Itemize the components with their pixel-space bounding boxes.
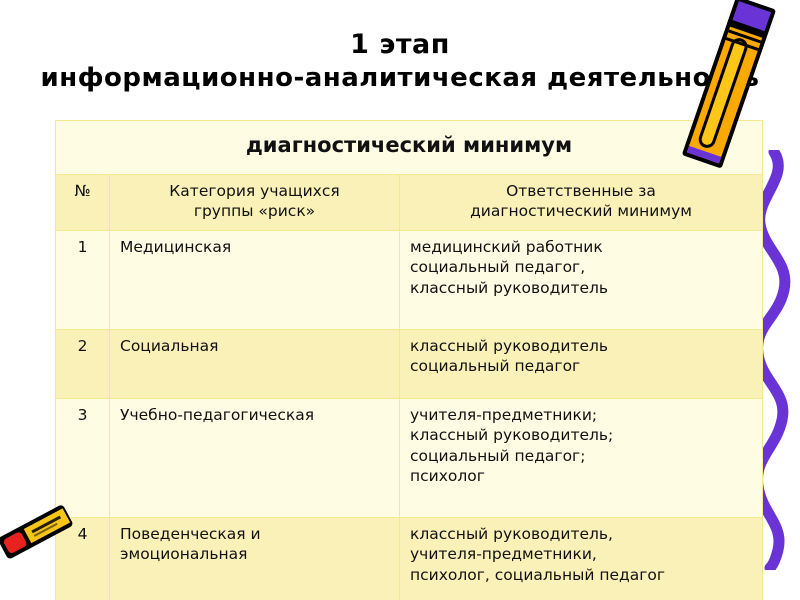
cell-category: Социальная: [110, 330, 400, 399]
title-line-2: информационно-аналитическая деятельность: [0, 62, 800, 95]
title-line-1: 1 этап: [0, 28, 800, 62]
table-header-row: № Категория учащихся группы «риск» Ответ…: [56, 175, 763, 231]
cell-responsible: классный руководитель социальный педагог: [400, 330, 763, 399]
table-row: 4 Поведенческая и эмоциональная классный…: [56, 518, 763, 600]
cell-number: 2: [56, 330, 110, 399]
table-row: 1 Медицинская медицинский работник социа…: [56, 231, 763, 330]
cell-responsible: медицинский работник социальный педагог,…: [400, 231, 763, 330]
table-caption-row: диагностический минимум: [56, 121, 763, 175]
column-header-category: Категория учащихся группы «риск»: [110, 175, 400, 231]
column-header-responsible: Ответственные за диагностический минимум: [400, 175, 763, 231]
slide-canvas: 1 этап информационно-аналитическая деяте…: [0, 0, 800, 600]
diagnostic-minimum-table: диагностический минимум № Категория учащ…: [55, 120, 763, 600]
slide-title: 1 этап информационно-аналитическая деяте…: [0, 28, 800, 95]
diagnostic-minimum-table-wrapper: диагностический минимум № Категория учащ…: [55, 120, 762, 600]
cell-category: Учебно-педагогическая: [110, 399, 400, 518]
column-header-number: №: [56, 175, 110, 231]
cell-responsible: классный руководитель, учителя-предметни…: [400, 518, 763, 600]
cell-category: Медицинская: [110, 231, 400, 330]
table-caption: диагностический минимум: [56, 121, 763, 175]
table-row: 2 Социальная классный руководитель социа…: [56, 330, 763, 399]
table-row: 3 Учебно-педагогическая учителя-предметн…: [56, 399, 763, 518]
cell-number: 3: [56, 399, 110, 518]
cell-category: Поведенческая и эмоциональная: [110, 518, 400, 600]
cell-responsible: учителя-предметники; классный руководите…: [400, 399, 763, 518]
cell-number: 4: [56, 518, 110, 600]
cell-number: 1: [56, 231, 110, 330]
